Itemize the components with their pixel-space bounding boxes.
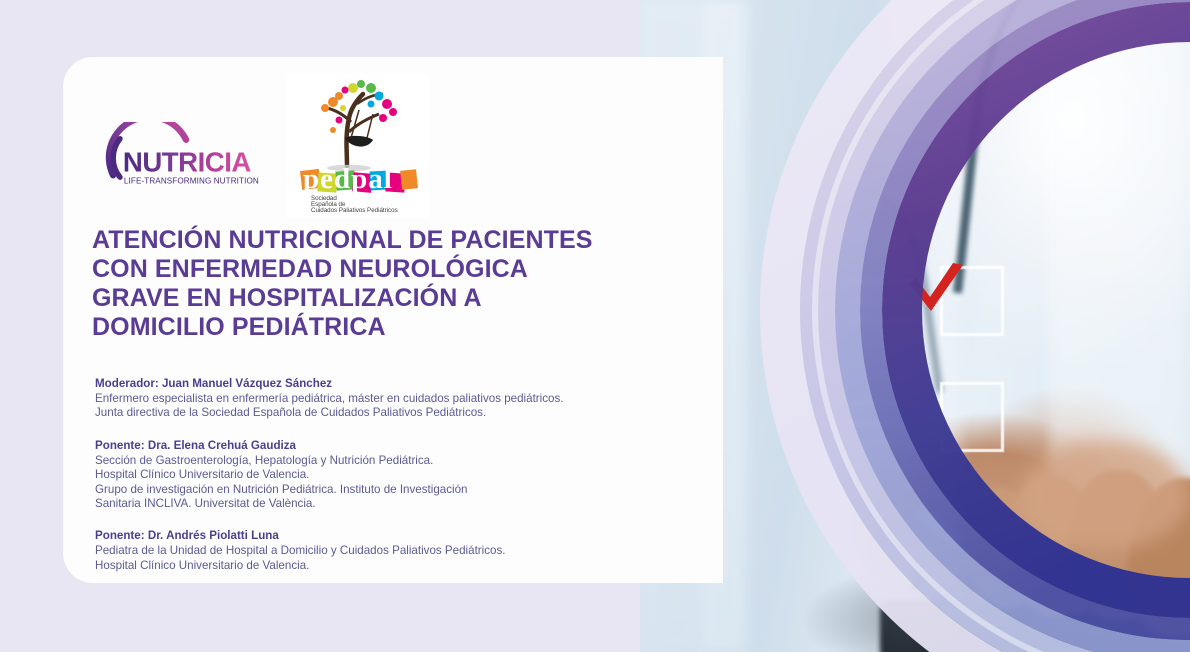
person-affiliation-line: Enfermero especialista en enfermería ped… <box>95 392 655 406</box>
person-affiliation-line: Sección de Gastroenterología, Hepatologí… <box>95 454 655 468</box>
nutricia-tagline: LIFE-TRANSFORMING NUTRITION <box>124 177 259 186</box>
pedpal-logo: pedpal Sociedad Española de Cuidados Pal… <box>287 74 429 218</box>
nutricia-logo: NUTRICIA LIFE-TRANSFORMING NUTRITION <box>104 122 274 192</box>
nutricia-wordmark: NUTRICIA <box>123 146 251 177</box>
speakers-list: Moderador: Juan Manuel Vázquez Sánchez E… <box>95 376 655 590</box>
headline-line-1: ATENCIÓN NUTRICIONAL DE PACIENTES <box>92 226 612 255</box>
page-title: ATENCIÓN NUTRICIONAL DE PACIENTES CON EN… <box>92 226 612 342</box>
person-role: Moderador: Juan Manuel Vázquez Sánchez <box>95 376 655 391</box>
pedpal-subtitle-3: Cuidados Paliativos Pediátricos <box>311 207 398 214</box>
person-role: Ponente: Dr. Andrés Piolatti Luna <box>95 528 655 543</box>
person-affiliation-line: Pediatra de la Unidad de Hospital a Domi… <box>95 544 655 558</box>
person-affiliation-line: Hospital Clínico Universitario de Valenc… <box>95 559 655 573</box>
person-speaker-1: Ponente: Dra. Elena Crehuá Gaudiza Secci… <box>95 438 655 512</box>
person-affiliation-line: Sanitaria INCLIVA. Universitat de Valènc… <box>95 497 655 511</box>
person-speaker-2: Ponente: Dr. Andrés Piolatti Luna Pediat… <box>95 528 655 573</box>
headline-line-2: CON ENFERMEDAD NEUROLÓGICA <box>92 255 612 284</box>
headline-line-4: DOMICILIO PEDIÁTRICA <box>92 313 612 342</box>
poster-root: NUTRICIA LIFE-TRANSFORMING NUTRITION <box>0 0 1190 652</box>
person-moderator: Moderador: Juan Manuel Vázquez Sánchez E… <box>95 376 655 421</box>
pedpal-wordmark-text: pedpal <box>303 163 393 195</box>
person-affiliation-line: Hospital Clínico Universitario de Valenc… <box>95 468 655 482</box>
person-role: Ponente: Dra. Elena Crehuá Gaudiza <box>95 438 655 453</box>
person-affiliation-line: Grupo de investigación en Nutrición Pedi… <box>95 483 655 497</box>
red-checkmark-icon <box>905 263 967 325</box>
headline-line-3: GRAVE EN HOSPITALIZACIÓN A <box>92 284 612 313</box>
person-affiliation-line: Junta directiva de la Sociedad Española … <box>95 406 655 420</box>
